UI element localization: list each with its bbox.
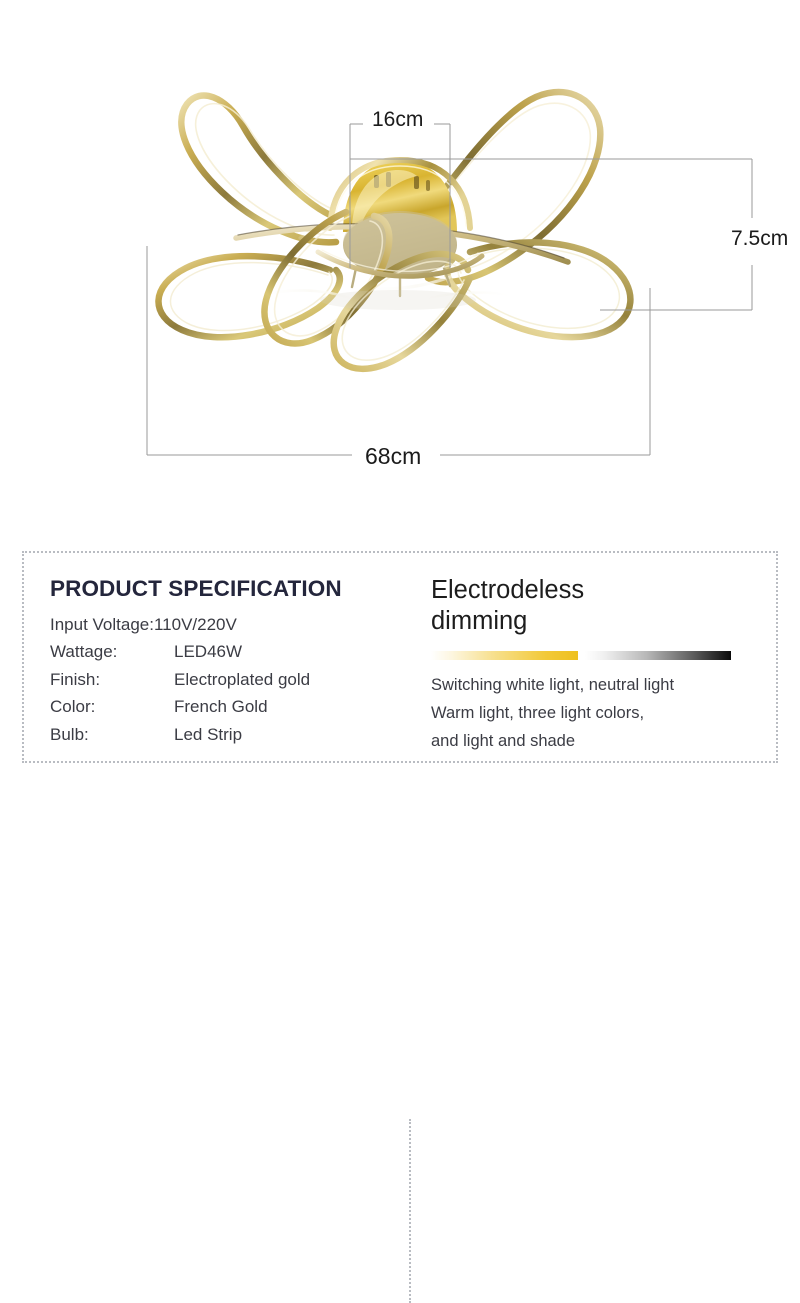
spec-label: Color: <box>50 693 174 721</box>
spec-value: Electroplated gold <box>174 666 390 694</box>
dimming-description-line: Warm light, three light colors, <box>431 699 761 727</box>
spec-panel-title: PRODUCT SPECIFICATION <box>50 577 390 602</box>
warm-light-gradient-bar <box>431 651 578 660</box>
spec-row-input-voltage: Input Voltage:110V/220V <box>50 611 390 639</box>
electrodeless-dimming-panel: Electrodeless dimming Switching white li… <box>431 575 761 756</box>
spec-value: Led Strip <box>174 721 390 749</box>
spec-value <box>237 611 390 639</box>
spec-value: French Gold <box>174 693 390 721</box>
lamp-product-image <box>0 0 800 520</box>
spec-label: Bulb: <box>50 721 174 749</box>
info-section: PRODUCT SPECIFICATION Input Voltage:110V… <box>22 551 778 763</box>
dimming-description-line: and light and shade <box>431 727 761 755</box>
dimming-title-line-2: dimming <box>431 607 527 635</box>
brightness-gradient-bar <box>585 651 732 660</box>
spec-label: Finish: <box>50 666 174 694</box>
spec-value: LED46W <box>174 638 390 666</box>
dimension-label-16cm: 16cm <box>363 107 432 132</box>
color-temperature-gradient-bars <box>431 651 731 660</box>
spec-row-wattage: Wattage: LED46W <box>50 638 390 666</box>
spec-label: Wattage: <box>50 638 174 666</box>
dimming-title-line-1: Electrodeless <box>431 576 584 604</box>
dimming-description-line: Switching white light, neutral light <box>431 671 761 699</box>
panel-divider <box>409 1119 411 1303</box>
dimension-label-68cm: 68cm <box>352 443 434 470</box>
spec-row-finish: Finish: Electroplated gold <box>50 666 390 694</box>
dimming-panel-title: Electrodeless dimming <box>431 575 761 638</box>
spec-label: Input Voltage:110V/220V <box>50 611 237 639</box>
dimension-label-7-5cm: 7.5cm <box>727 225 792 252</box>
product-specification-panel: PRODUCT SPECIFICATION Input Voltage:110V… <box>50 577 390 748</box>
spec-row-bulb: Bulb: Led Strip <box>50 721 390 749</box>
spec-row-color: Color: French Gold <box>50 693 390 721</box>
product-photo-area: 16cm 7.5cm 68cm <box>0 0 800 520</box>
